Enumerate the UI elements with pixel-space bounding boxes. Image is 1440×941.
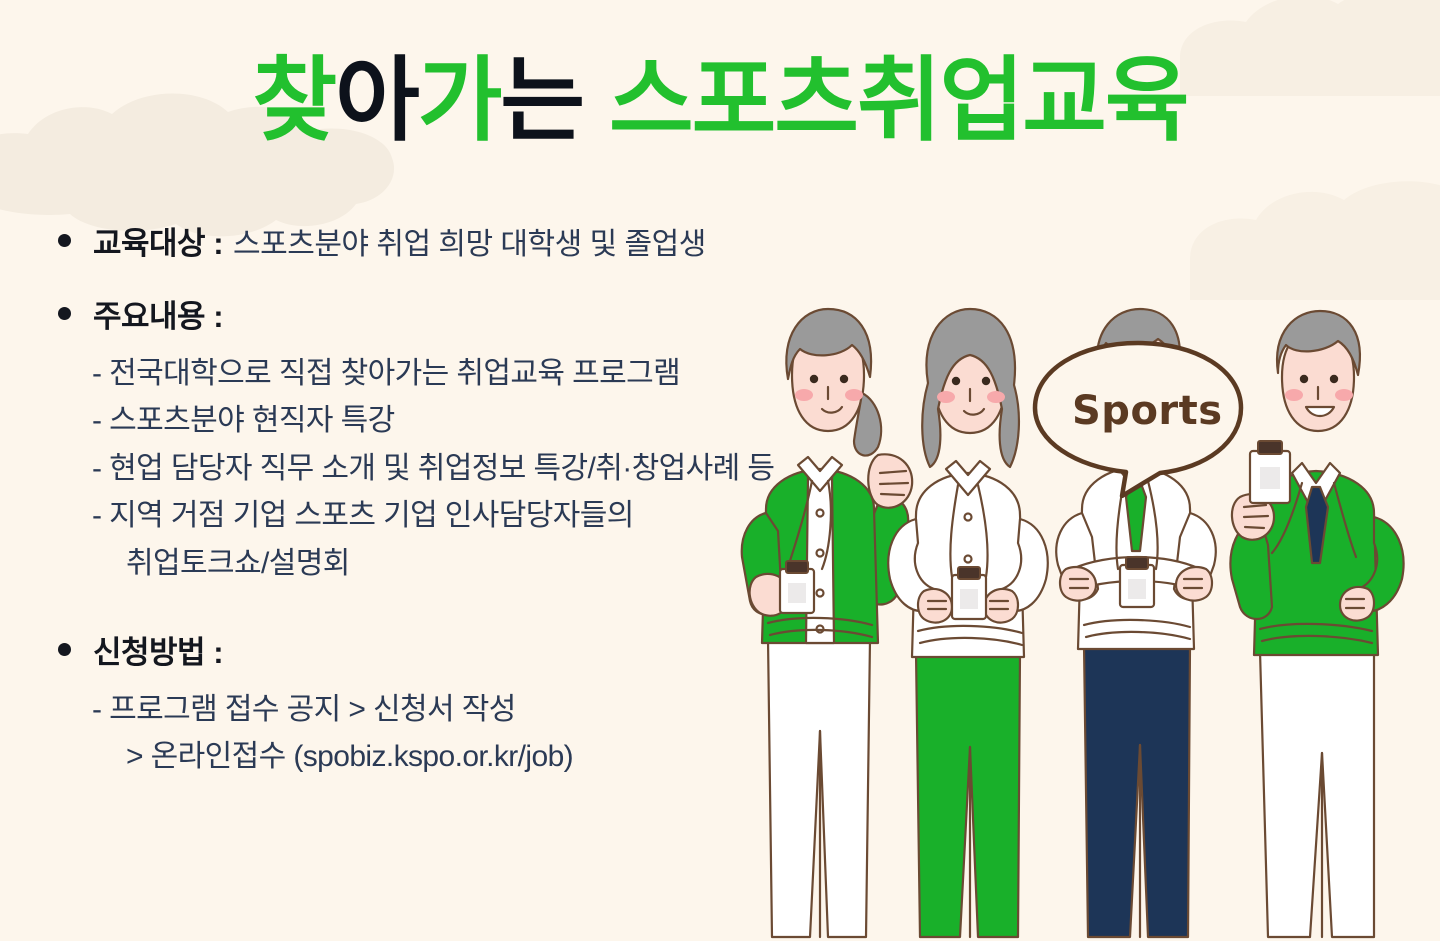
list-item: - 현업 담당자 직무 소개 및 취업정보 특강/취·창업사례 등 [92, 445, 1058, 492]
list-item: 취업토크쇼/설명회 [92, 540, 1058, 587]
content-body: 교육대상 : 스포츠분야 취업 희망 대학생 및 졸업생 주요내용 : - 전국… [58, 218, 1058, 787]
list-item: - 프로그램 접수 공지 > 신청서 작성 [92, 686, 1058, 733]
list-item: - 지역 거점 기업 스포츠 기업 인사담당자들의 [92, 492, 1058, 539]
bullet-dot-icon [58, 234, 71, 247]
section-heading: 교육대상 : 스포츠분야 취업 희망 대학생 및 졸업생 [58, 218, 1058, 263]
person-green-sweater-man [1230, 311, 1403, 937]
list-item: - 전국대학으로 직접 찾아가는 취업교육 프로그램 [92, 350, 1058, 397]
section-label: 신청방법 : [93, 627, 223, 672]
bullet-dot-icon [58, 643, 71, 656]
section-heading: 신청방법 : [58, 627, 1058, 672]
title-seg-3: 는 [500, 50, 583, 152]
list-item: > 온라인접수 (spobiz.kspo.or.kr/job) [92, 733, 1058, 780]
slide-root: { "colors": { "background": "#fdf6ec", "… [0, 0, 1440, 941]
speech-bubble-label: Sports [1072, 388, 1223, 434]
title-seg-1: 아 [335, 50, 418, 152]
list-item: - 스포츠분야 현직자 특강 [92, 397, 1058, 444]
title-block: 찾아가는스포츠취업교육 [0, 52, 1440, 151]
bullet-dot-icon [58, 307, 71, 320]
cloud-top-right [1190, 181, 1440, 300]
section-label: 주요내용 : [93, 291, 223, 336]
sub-item-list: - 전국대학으로 직접 찾아가는 취업교육 프로그램 - 스포츠분야 현직자 특… [92, 350, 1058, 587]
spacer [58, 277, 1058, 291]
section-education-target: 교육대상 : 스포츠분야 취업 희망 대학생 및 졸업생 [58, 218, 1058, 263]
sub-item-list: - 프로그램 접수 공지 > 신청서 작성 > 온라인접수 (spobiz.ks… [92, 686, 1058, 781]
spacer [58, 593, 1058, 627]
section-heading: 주요내용 : [58, 291, 1058, 336]
section-label: 교육대상 : [93, 218, 223, 263]
title-seg-4: 스포츠취업교육 [609, 50, 1187, 152]
title-seg-0: 찾 [252, 50, 335, 152]
section-value: 스포츠분야 취업 희망 대학생 및 졸업생 [233, 219, 706, 263]
title-seg-2: 가 [418, 50, 501, 152]
section-how-to-apply: 신청방법 : - 프로그램 접수 공지 > 신청서 작성 > 온라인접수 (sp… [58, 627, 1058, 781]
section-main-content: 주요내용 : - 전국대학으로 직접 찾아가는 취업교육 프로그램 - 스포츠분… [58, 291, 1058, 587]
page-title: 찾아가는스포츠취업교육 [252, 52, 1187, 151]
